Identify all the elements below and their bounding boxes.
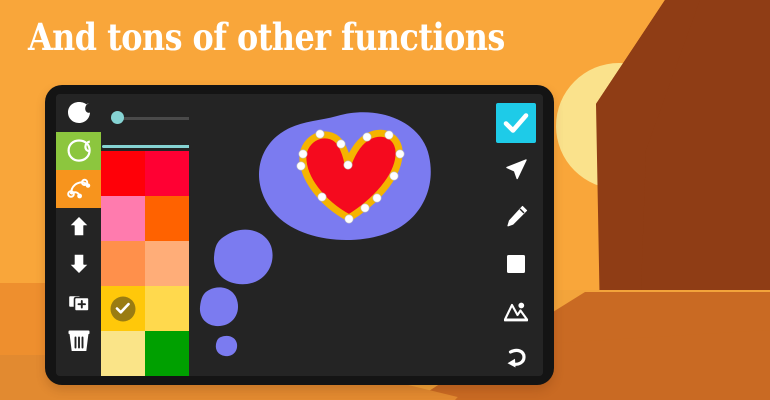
edit-nodes-button[interactable]	[56, 170, 101, 208]
undo-button[interactable]	[496, 338, 536, 376]
trash-icon	[67, 328, 91, 354]
shape-button[interactable]	[496, 244, 536, 284]
swatch-red[interactable]	[101, 151, 145, 196]
edit-nodes-icon	[66, 176, 92, 202]
left-toolbar	[56, 94, 101, 376]
swatch-pale-yellow[interactable]	[101, 331, 145, 376]
send-backward-button[interactable]	[56, 246, 101, 284]
move-up-icon	[67, 214, 91, 240]
swatch-orange[interactable]	[145, 196, 189, 241]
pencil-icon	[503, 204, 529, 230]
confirm-button[interactable]	[496, 103, 536, 143]
swatch-gold[interactable]	[101, 286, 145, 331]
page-title: And tons of other functions	[28, 15, 505, 59]
drawing-canvas[interactable]	[189, 94, 489, 376]
thought-bubble-tail-2[interactable]	[200, 287, 238, 326]
insert-image-button[interactable]	[496, 291, 536, 331]
tablet-device	[45, 85, 554, 385]
stroke-shape-button[interactable]	[56, 132, 101, 170]
duplicate-button[interactable]	[56, 284, 101, 322]
swatch-green[interactable]	[145, 331, 189, 376]
duplicate-icon	[66, 290, 92, 316]
draw-button[interactable]	[496, 197, 536, 237]
app-screenshot: And tons of other functions	[0, 0, 770, 400]
stroke-shape-icon	[66, 138, 92, 164]
bring-forward-button[interactable]	[56, 208, 101, 246]
image-icon	[503, 299, 529, 323]
select-button[interactable]	[496, 150, 536, 190]
fill-shape-icon	[66, 100, 92, 126]
check-icon	[503, 112, 529, 134]
undo-icon	[503, 346, 529, 370]
move-down-icon	[67, 252, 91, 278]
swatch-crimson[interactable]	[145, 151, 189, 196]
cursor-select-icon	[503, 157, 529, 183]
fill-shape-button[interactable]	[56, 94, 101, 132]
thought-bubble-tail-1[interactable]	[214, 230, 273, 285]
size-slider-knob[interactable]	[111, 111, 124, 124]
thought-bubble-tail-3[interactable]	[216, 336, 237, 356]
check-icon	[116, 303, 131, 315]
right-toolbar	[489, 94, 543, 376]
swatch-coral[interactable]	[101, 241, 145, 286]
tablet-screen	[56, 94, 543, 376]
swatch-yellow[interactable]	[145, 286, 189, 331]
square-shape-icon	[504, 252, 528, 276]
color-palette	[101, 151, 189, 376]
swatch-salmon[interactable]	[145, 241, 189, 286]
swatch-pink[interactable]	[101, 196, 145, 241]
selected-swatch-indicator	[111, 296, 136, 321]
delete-button[interactable]	[56, 322, 101, 360]
